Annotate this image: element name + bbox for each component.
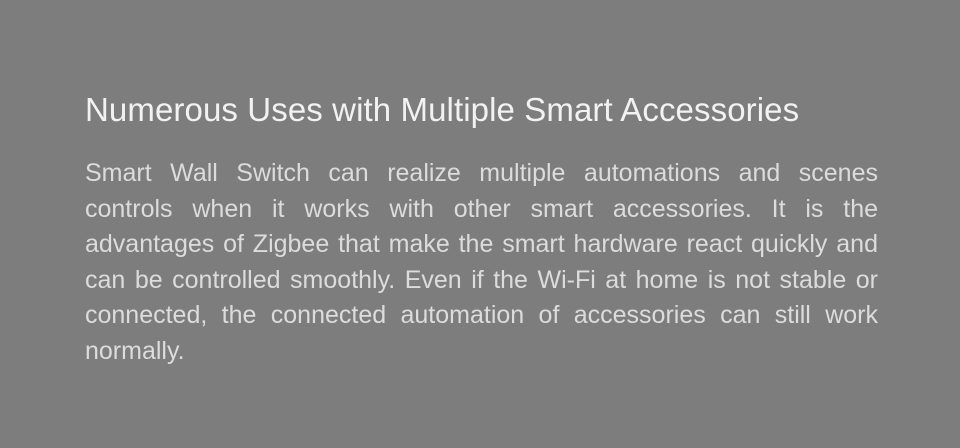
promo-panel: Numerous Uses with Multiple Smart Access…	[0, 0, 960, 448]
content-block: Numerous Uses with Multiple Smart Access…	[85, 88, 878, 405]
body-paragraph: Smart Wall Switch can realize multiple a…	[85, 132, 878, 405]
page-title: Numerous Uses with Multiple Smart Access…	[85, 88, 878, 132]
